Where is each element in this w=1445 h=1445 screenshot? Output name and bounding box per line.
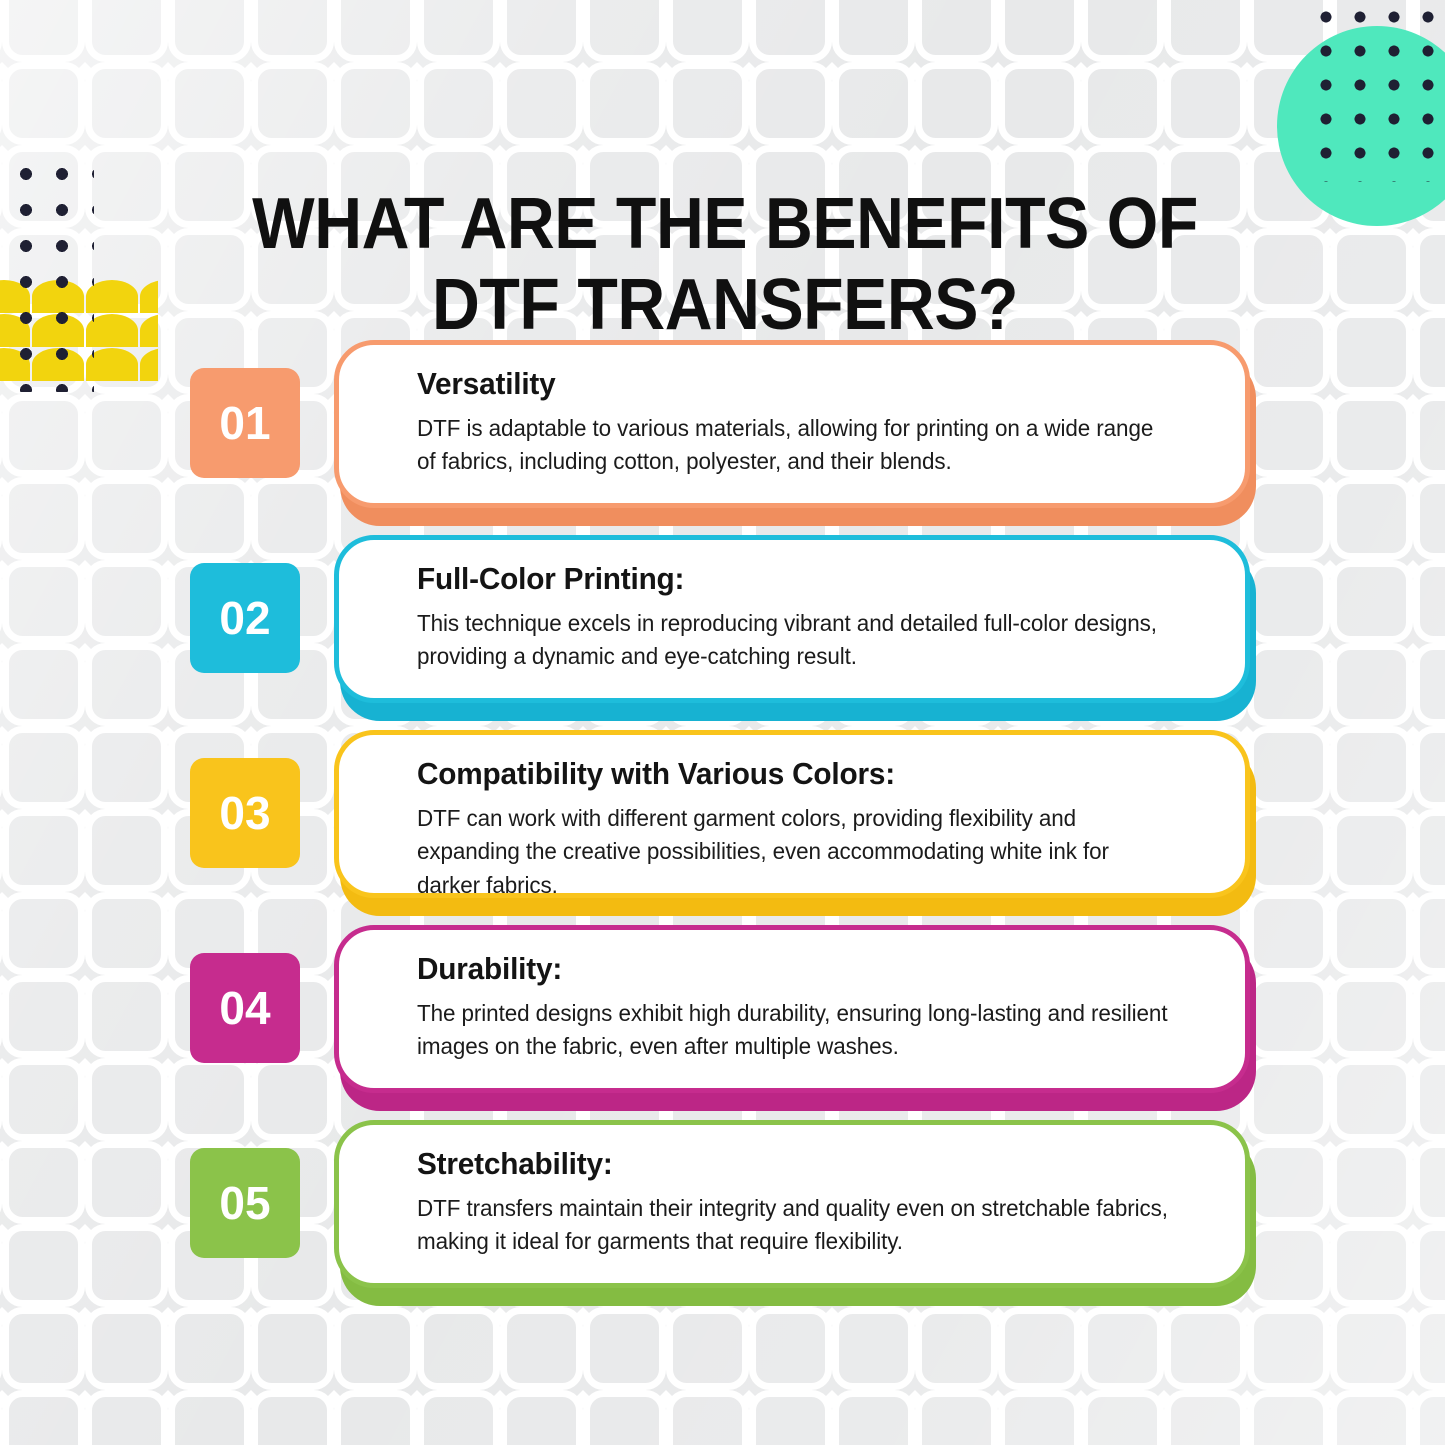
- card-body: DTF transfers maintain their integrity a…: [417, 1192, 1171, 1259]
- infographic-canvas: WHAT ARE THE BENEFITS OF DTF TRANSFERS? …: [0, 0, 1445, 1445]
- card-surface: Versatility DTF is adaptable to various …: [334, 340, 1250, 508]
- card-body: The printed designs exhibit high durabil…: [417, 997, 1171, 1064]
- list-item: 02 Full-Color Printing: This technique e…: [0, 535, 1445, 730]
- page-title: WHAT ARE THE BENEFITS OF DTF TRANSFERS?: [214, 184, 1235, 345]
- card-title: Full-Color Printing:: [417, 562, 1175, 596]
- item-number-badge-04: 04: [190, 953, 300, 1063]
- item-number-badge-01: 01: [190, 368, 300, 478]
- card-title: Versatility: [417, 367, 1175, 401]
- list-item: 04 Durability: The printed designs exhib…: [0, 925, 1445, 1120]
- card-body: DTF is adaptable to various materials, a…: [417, 412, 1171, 479]
- item-number-badge-02: 02: [190, 563, 300, 673]
- card-surface: Full-Color Printing: This technique exce…: [334, 535, 1250, 703]
- card-surface: Durability: The printed designs exhibit …: [334, 925, 1250, 1093]
- item-number-badge-03: 03: [190, 758, 300, 868]
- list-item: 01 Versatility DTF is adaptable to vario…: [0, 340, 1445, 535]
- card-body: This technique excels in reproducing vib…: [417, 607, 1171, 674]
- card-body: DTF can work with different garment colo…: [417, 802, 1171, 902]
- list-item: 03 Compatibility with Various Colors: DT…: [0, 730, 1445, 925]
- card-title: Compatibility with Various Colors:: [417, 757, 1175, 791]
- list-item: 05 Stretchability: DTF transfers maintai…: [0, 1120, 1445, 1315]
- item-card-01: Versatility DTF is adaptable to various …: [334, 340, 1250, 508]
- item-card-02: Full-Color Printing: This technique exce…: [334, 535, 1250, 703]
- card-title: Stretchability:: [417, 1147, 1175, 1181]
- item-card-04: Durability: The printed designs exhibit …: [334, 925, 1250, 1093]
- item-card-03: Compatibility with Various Colors: DTF c…: [334, 730, 1250, 898]
- card-title: Durability:: [417, 952, 1175, 986]
- dot-grid-icon-top-right: [1315, 6, 1439, 182]
- item-number-badge-05: 05: [190, 1148, 300, 1258]
- card-surface: Stretchability: DTF transfers maintain t…: [334, 1120, 1250, 1288]
- benefits-list: 01 Versatility DTF is adaptable to vario…: [0, 340, 1445, 1315]
- card-surface: Compatibility with Various Colors: DTF c…: [334, 730, 1250, 898]
- item-card-05: Stretchability: DTF transfers maintain t…: [334, 1120, 1250, 1288]
